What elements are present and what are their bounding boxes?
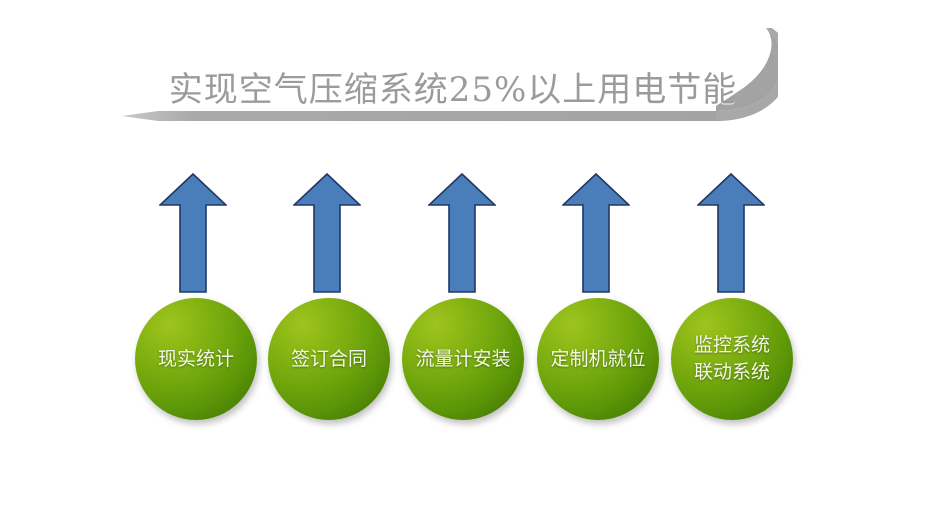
- arrow-up-icon-5: [697, 172, 765, 294]
- step-label-4: 定制机就位: [550, 347, 645, 372]
- step-label-2: 签订合同: [291, 347, 367, 372]
- arrow-up-icon-4: [562, 172, 630, 294]
- arrow-up-icon-1: [159, 172, 227, 294]
- step-label-3: 流量计安装: [415, 347, 510, 372]
- arrow-up-icon-2: [293, 172, 361, 294]
- step-label-5: 监控系统 联动系统: [694, 332, 770, 386]
- step-label-5-line-2: 联动系统: [694, 359, 770, 386]
- slide-canvas: 实现空气压缩系统25%以上用电节能 现实统计 签订合同 流量计安装 定制机就位 …: [0, 0, 945, 529]
- step-label-5-line-1: 监控系统: [694, 332, 770, 359]
- step-label-1: 现实统计: [158, 347, 234, 372]
- step-circle-5[interactable]: 监控系统 联动系统: [671, 298, 793, 420]
- page-title: 实现空气压缩系统25%以上用电节能: [158, 70, 748, 110]
- step-circle-3[interactable]: 流量计安装: [402, 298, 524, 420]
- step-circle-4[interactable]: 定制机就位: [537, 298, 659, 420]
- step-circle-1[interactable]: 现实统计: [135, 298, 257, 420]
- step-circle-2[interactable]: 签订合同: [268, 298, 390, 420]
- title-banner: 实现空气压缩系统25%以上用电节能: [118, 28, 778, 130]
- arrow-up-icon-3: [428, 172, 496, 294]
